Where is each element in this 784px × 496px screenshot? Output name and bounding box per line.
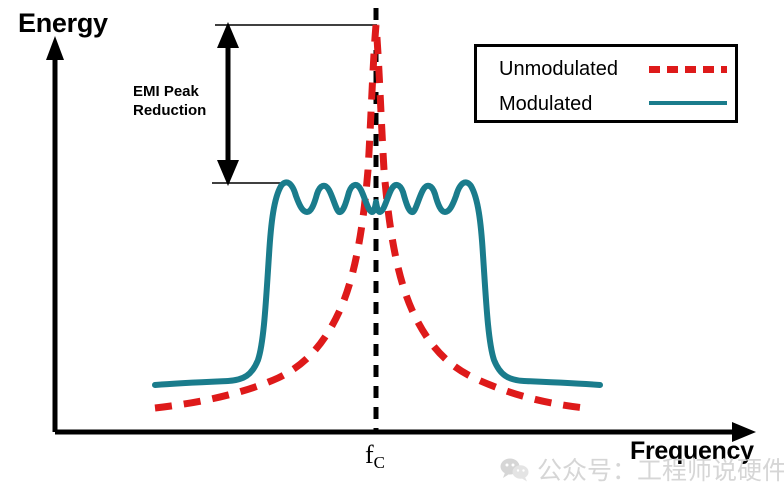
y-axis — [46, 36, 64, 432]
legend-label-unmodulated: Unmodulated — [499, 58, 649, 81]
legend-item-modulated: Modulated — [477, 87, 735, 121]
center-frequency-symbol: f — [365, 440, 374, 469]
legend: Unmodulated Modulated — [474, 44, 738, 123]
emi-label-line-2: Reduction — [133, 101, 206, 120]
y-axis-label: Energy — [18, 8, 108, 39]
solid-line-icon — [649, 101, 727, 105]
emi-label-line-1: EMI Peak — [133, 82, 206, 101]
emi-peak-reduction-label: EMI Peak Reduction — [133, 82, 206, 120]
dashed-line-icon — [649, 66, 727, 73]
emi-peak-reduction-arrow — [217, 22, 239, 186]
legend-swatch-modulated — [649, 101, 727, 107]
chart-canvas: Energy Frequency fC EMI Peak Reduction U… — [0, 0, 784, 496]
center-frequency-subscript: C — [374, 453, 385, 472]
x-axis-label: Frequency — [630, 437, 754, 466]
legend-swatch-unmodulated — [649, 66, 727, 72]
legend-item-unmodulated: Unmodulated — [477, 52, 735, 86]
legend-label-modulated: Modulated — [499, 93, 649, 116]
center-frequency-label: fC — [365, 440, 385, 473]
